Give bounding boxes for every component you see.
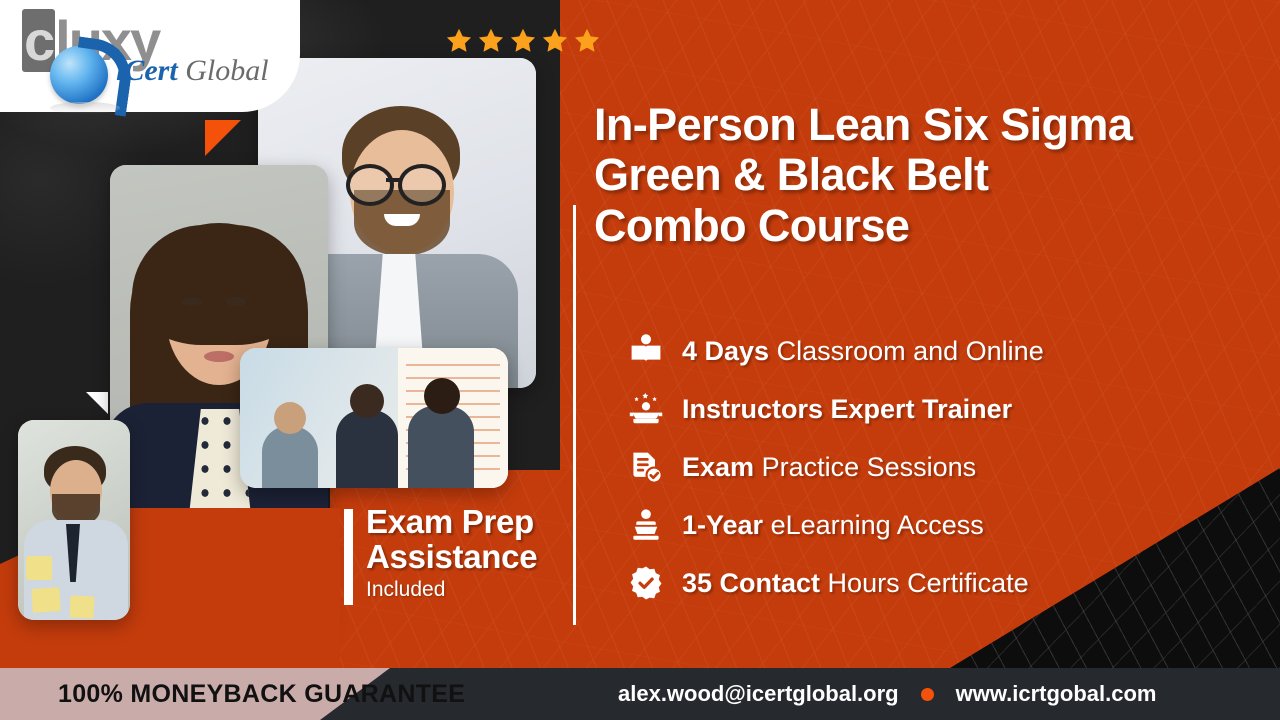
exam-prep-callout: Exam Prep Assistance Included	[344, 505, 574, 602]
logo-wordmark: iCert Global	[116, 54, 269, 88]
feature-label: 1-Year eLearning Access	[682, 510, 984, 541]
orange-triangle-accent	[205, 120, 241, 156]
photo-man-notes	[18, 420, 130, 620]
feature-label-rest: Practice Sessions	[754, 452, 976, 482]
star-icon	[508, 26, 538, 56]
feature-item: 4 Days Classroom and Online	[628, 322, 1248, 380]
star-icon	[476, 26, 506, 56]
promo-banner: cluxy iCert Global In-Person Lean Six Si…	[0, 0, 1280, 720]
contact-website[interactable]: www.icrtgobal.com	[956, 681, 1157, 707]
moneyback-guarantee-text: 100% MONEYBACK GUARANTEE	[58, 668, 465, 720]
star-icon	[444, 26, 474, 56]
verified-badge-icon	[628, 565, 682, 601]
exam-prep-note: Included	[366, 578, 574, 602]
feature-label-bold: 1-Year	[682, 510, 763, 540]
star-icon	[572, 26, 602, 56]
contact-email[interactable]: alex.wood@icertglobal.org	[618, 681, 899, 707]
rating-stars	[444, 26, 602, 56]
exam-prep-line-1: Exam Prep	[366, 505, 574, 540]
headline-line-3: Combo Course	[594, 201, 1274, 251]
page-title: In-Person Lean Six Sigma Green & Black B…	[594, 100, 1274, 251]
feature-label: Instructors Expert Trainer	[682, 394, 1012, 425]
headline-line-1: In-Person Lean Six Sigma	[594, 100, 1274, 150]
logo-word-cert: Cert	[124, 54, 177, 87]
feature-item: Exam Practice Sessions	[628, 438, 1248, 496]
feature-label-bold: 4 Days	[682, 336, 769, 366]
brand-logo: cluxy iCert Global	[16, 6, 286, 106]
feature-label-bold: Exam	[682, 452, 754, 482]
bullet-dot-icon	[921, 688, 934, 701]
photo-team	[240, 348, 508, 488]
feature-item: Instructors Expert Trainer	[628, 380, 1248, 438]
exam-document-check-icon	[628, 449, 682, 485]
white-triangle-accent	[86, 392, 108, 414]
expert-trainer-icon	[628, 391, 682, 427]
feature-label-bold: 35 Contact	[682, 568, 820, 598]
feature-label: 35 Contact Hours Certificate	[682, 568, 1029, 599]
star-icon	[540, 26, 570, 56]
reader-book-icon	[628, 333, 682, 369]
headline-line-2: Green & Black Belt	[594, 150, 1274, 200]
logo-reflection	[50, 102, 120, 114]
feature-label-rest: Hours Certificate	[820, 568, 1029, 598]
podium-lectern-icon	[628, 507, 682, 543]
feature-label: Exam Practice Sessions	[682, 452, 976, 483]
feature-label-rest: eLearning Access	[763, 510, 984, 540]
feature-label: 4 Days Classroom and Online	[682, 336, 1044, 367]
logo-word-global: Global	[178, 54, 269, 87]
callout-accent-bar	[344, 509, 353, 605]
feature-label-bold: Instructors Expert Trainer	[682, 394, 1012, 424]
feature-label-rest: Classroom and Online	[769, 336, 1044, 366]
exam-prep-line-2: Assistance	[366, 540, 574, 575]
watermark-boxed-letter: c	[22, 9, 55, 72]
footer-contact: alex.wood@icertglobal.org www.icrtgobal.…	[618, 668, 1157, 720]
footer-bar: 100% MONEYBACK GUARANTEE alex.wood@icert…	[0, 668, 1280, 720]
